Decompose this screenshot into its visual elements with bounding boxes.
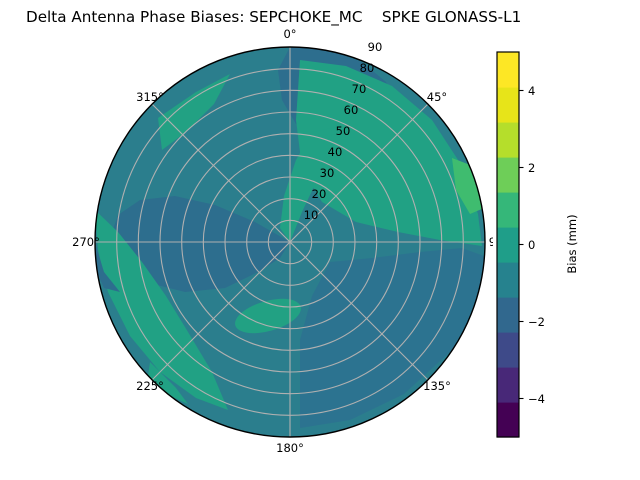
colorbar[interactable]: 4 2 0 −2 −4 Bias (mm) xyxy=(497,52,579,438)
colorbar-swatch xyxy=(497,227,519,263)
colorbar-swatch xyxy=(497,52,519,88)
radial-tick-70: 70 xyxy=(352,82,367,96)
radial-tick-90: 90 xyxy=(368,40,383,54)
colorbar-swatch xyxy=(497,262,519,298)
colorbar-swatch xyxy=(497,402,519,438)
azimuth-tick-270: 270° xyxy=(72,235,100,249)
radial-tick-50: 50 xyxy=(336,124,351,138)
colorbar-tick-2: 2 xyxy=(528,161,535,175)
colorbar-ticks xyxy=(519,91,524,399)
colorbar-swatch xyxy=(497,122,519,158)
colorbar-tick-labels: 4 2 0 −2 −4 xyxy=(528,84,545,406)
figure-canvas: Delta Antenna Phase Biases: SEPCHOKE_MC … xyxy=(0,0,640,480)
azimuth-tick-315: 315° xyxy=(136,90,164,104)
azimuth-tick-135: 135° xyxy=(423,379,451,393)
radial-tick-20: 20 xyxy=(312,187,327,201)
radial-tick-10: 10 xyxy=(304,208,319,222)
colorbar-swatch xyxy=(497,87,519,123)
azimuth-tick-180: 180° xyxy=(276,441,304,455)
radial-tick-30: 30 xyxy=(320,166,335,180)
azimuth-tick-225: 225° xyxy=(136,379,164,393)
colorbar-tick-0: 0 xyxy=(528,238,535,252)
colorbar-tick-4: 4 xyxy=(528,84,535,98)
colorbar-swatch xyxy=(497,367,519,403)
colorbar-axis-label: Bias (mm) xyxy=(565,214,579,273)
radial-tick-60: 60 xyxy=(344,103,359,117)
colorbar-swatches xyxy=(497,52,519,438)
radial-tick-80: 80 xyxy=(360,61,375,75)
colorbar-swatch xyxy=(497,332,519,368)
colorbar-tick-neg2: −2 xyxy=(528,315,545,329)
azimuth-tick-45: 45° xyxy=(427,90,447,104)
polar-plot: 0° 45° 90° 135° 180° 225° 270° 315° 10 2… xyxy=(0,0,640,480)
radial-tick-40: 40 xyxy=(328,145,343,159)
colorbar-swatch xyxy=(497,157,519,193)
page-title: Delta Antenna Phase Biases: SEPCHOKE_MC … xyxy=(0,8,640,26)
colorbar-swatch xyxy=(497,192,519,228)
colorbar-swatch xyxy=(497,297,519,333)
colorbar-tick-neg4: −4 xyxy=(528,392,545,406)
azimuth-tick-0: 0° xyxy=(283,27,296,41)
